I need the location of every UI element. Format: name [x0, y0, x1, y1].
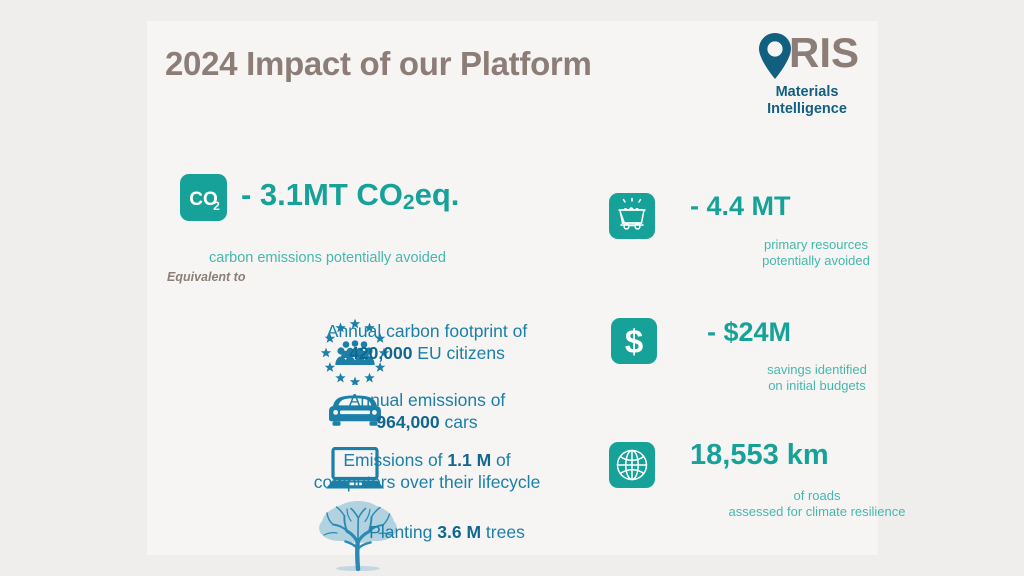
co2-badge-icon: CO 2 — [180, 174, 227, 221]
cars-line2-rest: cars — [440, 412, 478, 432]
savings-caption: savings identified on initial budgets — [687, 362, 947, 393]
savings-caption-line2: on initial budgets — [687, 378, 947, 394]
globe-icon — [609, 442, 655, 488]
roads-value: 18,553 km — [690, 439, 829, 472]
savings-caption-line1: savings identified — [687, 362, 947, 378]
citizens-line2-rest: EU citizens — [412, 343, 504, 363]
computers-line2: computers over their lifecycle — [314, 472, 541, 492]
logo-tagline-line2: Intelligence — [745, 101, 869, 118]
resources-caption-line2: potentially avoided — [706, 253, 926, 269]
resources-caption-line1: primary resources — [706, 237, 926, 253]
computers-line1-pre: Emissions of — [343, 450, 447, 470]
computers-line1-post: of — [491, 450, 510, 470]
trees-line1-post: trees — [481, 522, 525, 542]
savings-value: - $24M — [707, 317, 791, 348]
co2-caption: carbon emissions potentially avoided — [209, 251, 446, 267]
svg-text:2: 2 — [213, 199, 220, 213]
oris-logo: RIS Materials Intelligence — [745, 30, 869, 130]
map-pin-o-icon — [759, 33, 791, 79]
logo-tagline: Materials Intelligence — [745, 84, 869, 118]
citizens-value: 420,000 — [349, 343, 412, 363]
citizens-line1: Annual carbon footprint of — [327, 321, 527, 341]
equivalence-text-computers: Emissions of 1.1 M of computers over the… — [248, 449, 606, 493]
equivalence-text-cars: Annual emissions of 964,000 cars — [258, 389, 596, 433]
svg-text:$: $ — [625, 323, 643, 360]
roads-caption-line1: of roads — [607, 488, 1024, 504]
logo-ris-text: RIS — [789, 30, 859, 76]
cars-line1: Annual emissions of — [349, 390, 506, 410]
co2-value: - 3.1MT CO — [241, 177, 403, 212]
mining-cart-icon — [609, 193, 655, 239]
computers-value: 1.1 M — [447, 450, 491, 470]
infographic-slide: 2024 Impact of our Platform RIS Material… — [0, 0, 1024, 576]
content-card: 2024 Impact of our Platform RIS Material… — [147, 21, 878, 555]
resources-caption: primary resources potentially avoided — [706, 237, 926, 268]
roads-caption: of roads assessed for climate resilience — [607, 488, 1024, 519]
equivalence-text-citizens: Annual carbon footprint of 420,000 EU ci… — [258, 320, 596, 364]
dollar-icon: $ — [611, 318, 657, 364]
trees-value: 3.6 M — [437, 522, 481, 542]
resources-value: - 4.4 MT — [690, 191, 791, 222]
equivalence-text-trees: Planting 3.6 M trees — [278, 521, 616, 543]
co2-value-suffix: eq. — [415, 177, 460, 212]
co2-headline: - 3.1MT CO2eq. — [241, 177, 459, 215]
trees-line1-pre: Planting — [369, 522, 437, 542]
logo-tagline-line1: Materials — [745, 84, 869, 101]
roads-caption-line2: assessed for climate resilience — [607, 504, 1024, 520]
logo-wordmark: RIS — [745, 30, 869, 82]
equivalent-to-label: Equivalent to — [167, 270, 245, 284]
cars-value: 964,000 — [376, 412, 439, 432]
page-title: 2024 Impact of our Platform — [165, 45, 592, 83]
co2-subscript: 2 — [403, 191, 415, 214]
